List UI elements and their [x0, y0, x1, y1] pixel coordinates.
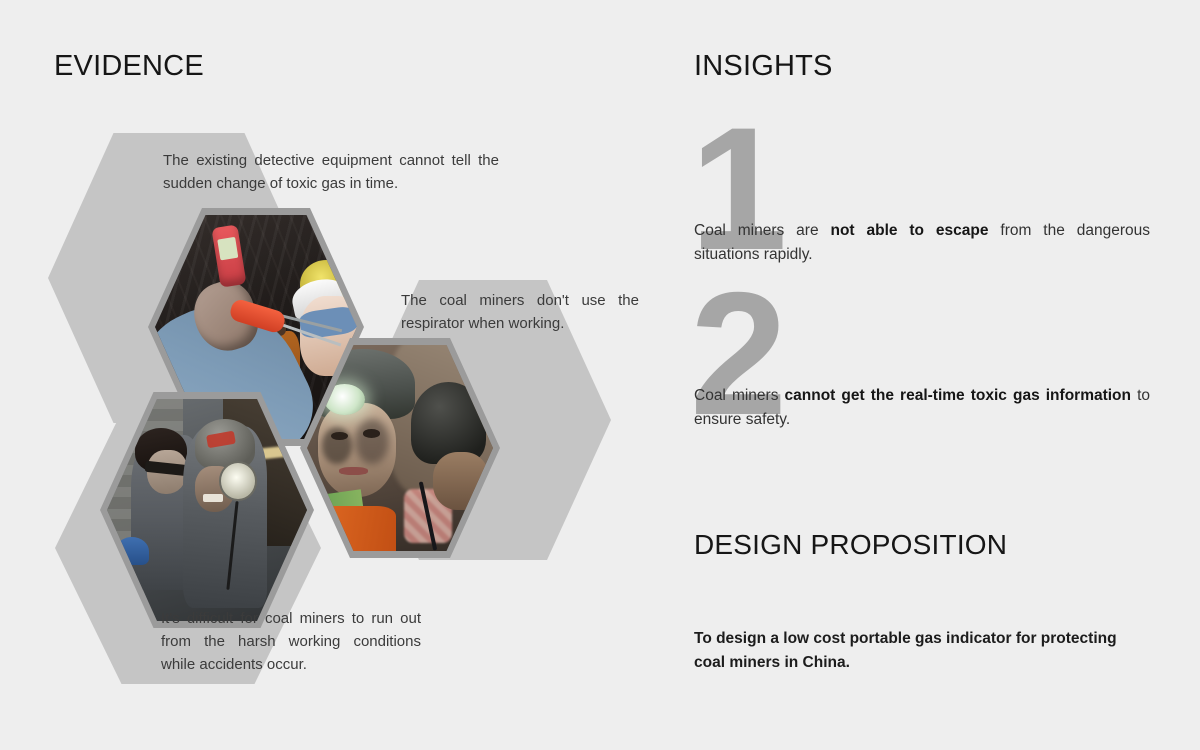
photo-clip: [107, 399, 307, 621]
evidence-caption-3: It's difficult for coal miners to run ou…: [161, 608, 421, 676]
insight-2-text-before: Coal miners: [694, 387, 785, 404]
evidence-caption-1: The existing detective equipment cannot …: [163, 150, 499, 196]
insight-1-text-bold: not able to escape: [830, 222, 988, 239]
design-proposition-text: To design a low cost portable gas indica…: [694, 627, 1150, 674]
photo-clip: [307, 345, 493, 551]
presentation-slide: EVIDENCE: [0, 0, 1200, 750]
evidence-caption-2: The coal miners don't use the respirator…: [401, 290, 639, 336]
photo-two-miners-image: [107, 399, 307, 621]
photo-miner-portrait-image: [307, 345, 493, 551]
page-title-design-proposition: DESIGN PROPOSITION: [694, 529, 1007, 561]
page-title-evidence: EVIDENCE: [54, 50, 204, 83]
page-title-insights: INSIGHTS: [694, 50, 833, 83]
insight-2-text-bold: cannot get the real-time toxic gas infor…: [785, 387, 1131, 404]
insight-text-2: Coal miners cannot get the real-time tox…: [694, 384, 1150, 431]
insight-1-text-before: Coal miners are: [694, 222, 830, 239]
